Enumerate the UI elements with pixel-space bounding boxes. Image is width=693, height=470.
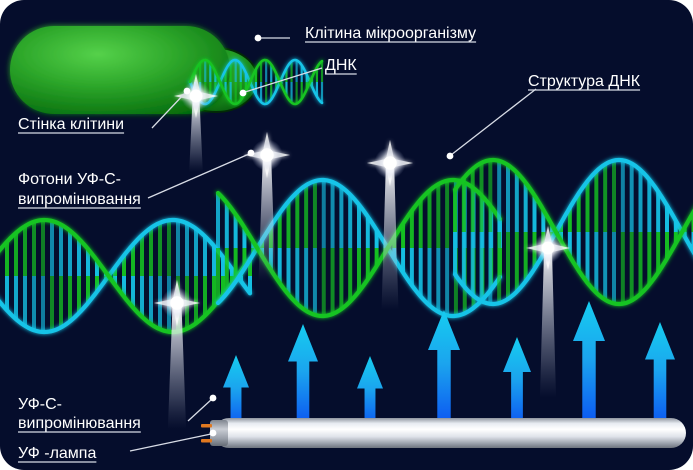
- photon-core: [260, 148, 273, 161]
- photon-core: [542, 242, 555, 255]
- leader-dot-dna-struct: [447, 153, 454, 160]
- lamp-pin-2: [201, 439, 212, 443]
- lamp-tube: [214, 418, 686, 448]
- leader-dot-dna: [240, 90, 247, 97]
- label-photons-1: Фотони УФ-С-: [18, 171, 121, 188]
- label-uvc-2: випромінювання: [18, 415, 141, 432]
- uvc-dna-illustration: Клітина мікроорганізмуДНКСтруктура ДНКСт…: [0, 0, 693, 470]
- label-cell-wall: Стінка клітини: [18, 116, 124, 133]
- label-dna: ДНК: [325, 57, 357, 74]
- photon-core: [170, 296, 183, 309]
- label-dna-struct: Структура ДНК: [528, 73, 641, 90]
- leader-dot-uv-lamp: [210, 430, 217, 437]
- illustration-stage: Клітина мікроорганізмуДНКСтруктура ДНКСт…: [0, 0, 693, 470]
- label-uvc-1: УФ-С-: [18, 396, 62, 413]
- lamp-pin-1: [201, 424, 212, 428]
- label-photons-2: випромінювання: [18, 191, 141, 208]
- photon-core: [190, 90, 203, 103]
- leader-dot-cell-wall: [184, 88, 191, 95]
- label-uv-lamp: УФ -лампа: [18, 445, 96, 462]
- label-cell: Клітина мікроорганізму: [305, 25, 476, 42]
- uv-lamp-group: [201, 418, 686, 448]
- leader-dot-cell: [255, 35, 262, 42]
- leader-dot-photons-2: [248, 150, 255, 157]
- photon-core: [383, 156, 396, 169]
- leader-dot-uvc-2: [210, 395, 217, 402]
